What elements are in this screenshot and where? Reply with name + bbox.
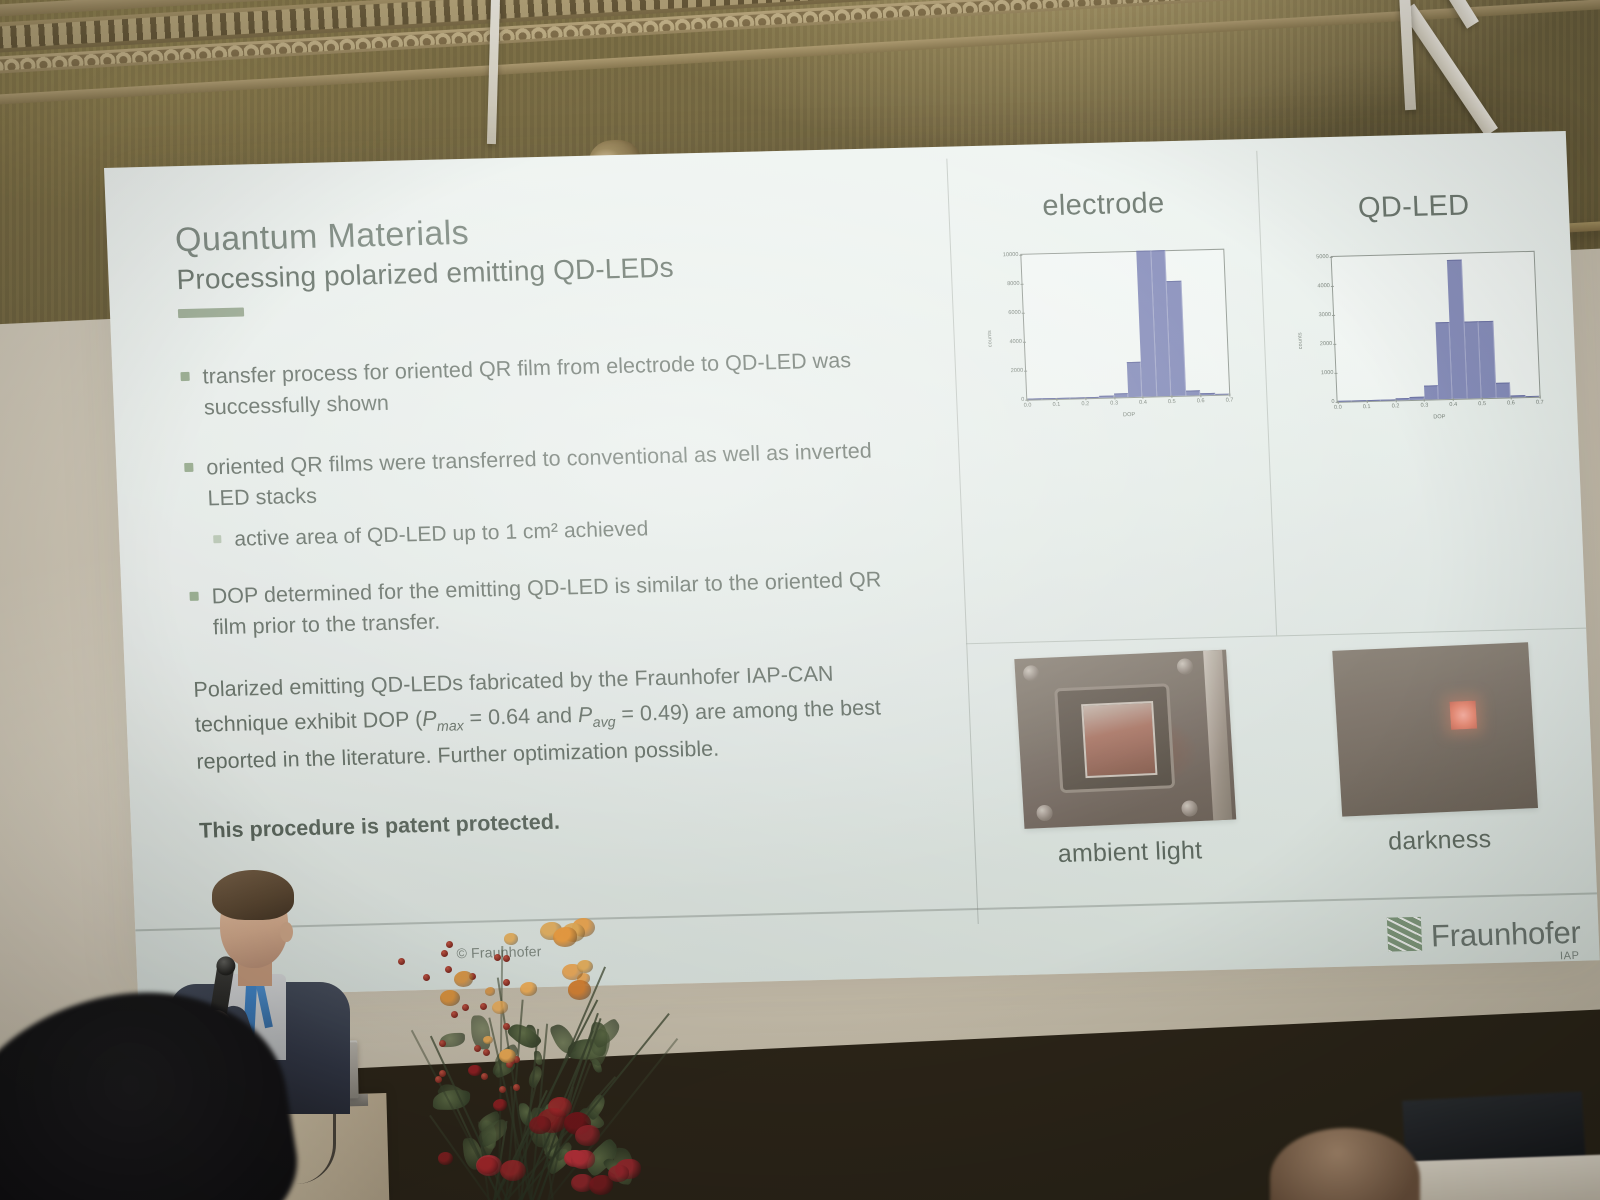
histogram-bar: [1127, 362, 1143, 397]
flower-blossom: [485, 987, 496, 996]
y-axis-tick-label: 2000: [1011, 368, 1024, 374]
hair: [212, 870, 294, 920]
screw-icon: [1023, 665, 1040, 682]
audience-head: [1270, 1128, 1420, 1200]
x-axis-tick-label: 0.4: [1139, 400, 1147, 406]
y-axis-tick-label: 4000: [1009, 339, 1022, 345]
histogram-bar: [1200, 393, 1214, 395]
figure-caption-darkness: darkness: [1388, 825, 1492, 857]
berry: [503, 1023, 510, 1030]
plot-ylabel: counts: [1297, 332, 1304, 349]
x-axis-tick-label: 0.7: [1536, 400, 1544, 406]
histogram-bar: [1395, 398, 1409, 400]
x-axis-tick-label: 0.7: [1226, 397, 1234, 403]
flower-arrangement: [392, 912, 648, 1200]
histogram-bar: [1410, 396, 1425, 400]
bullet-list: transfer process for oriented QR film fr…: [180, 344, 925, 643]
flower-blossom: [571, 1150, 595, 1169]
x-axis-tick-label: 0.1: [1052, 402, 1060, 408]
figure-caption-ambient: ambient light: [1057, 836, 1203, 869]
x-axis-tick-label: 0.1: [1363, 404, 1371, 410]
flower-blossom: [492, 1001, 508, 1014]
bullet-item: transfer process for oriented QR film fr…: [180, 344, 916, 424]
device-photo-darkness: [1332, 642, 1538, 816]
plot-xlabel: DOP: [1337, 412, 1541, 423]
fraunhofer-logo-icon: [1387, 917, 1422, 952]
histogram-bar: [1511, 395, 1525, 397]
bullet-item: oriented QR films were transferred to co…: [184, 435, 920, 515]
figure-electrode: electrode counts DOP 0200040006000800010…: [946, 139, 1276, 643]
berry: [445, 966, 452, 973]
foliage-leaf: [471, 1016, 490, 1050]
y-axis-tick-label: 1000: [1321, 370, 1334, 376]
square-bullet-icon: [180, 372, 189, 381]
flower-blossom: [499, 1049, 516, 1063]
qdled-histogram-plot: counts DOP 0100020003000400050000.00.10.…: [1290, 247, 1547, 428]
y-axis-tick-label: 3000: [1319, 312, 1332, 318]
histogram-bar: [1479, 321, 1497, 398]
background-table: [1405, 1155, 1600, 1200]
photo-ambient-light: ambient light: [967, 650, 1289, 958]
x-axis-tick-label: 0.2: [1392, 403, 1400, 409]
bullet-text: DOP determined for the emitting QD-LED i…: [211, 564, 913, 643]
plot-xlabel: DOP: [1027, 410, 1231, 421]
flower-blossom: [608, 1165, 629, 1182]
x-axis-tick-label: 0.5: [1478, 401, 1486, 407]
flower-blossom: [468, 1065, 482, 1076]
conference-room-photo: Quantum Materials Processing polarized e…: [0, 0, 1600, 1200]
flower-blossom: [520, 982, 537, 996]
figure-caption-electrode: electrode: [1042, 187, 1165, 223]
plot-bars: [1332, 252, 1540, 402]
y-axis-tick-label: 6000: [1008, 310, 1021, 316]
histogram-bar: [1114, 393, 1129, 398]
accent-bar: [178, 308, 244, 319]
fraunhofer-logo: Fraunhofer: [1387, 913, 1581, 952]
x-axis-tick-label: 0.3: [1420, 403, 1428, 409]
berry: [462, 1004, 469, 1011]
berry: [481, 1073, 488, 1080]
x-axis-tick-label: 0.0: [1024, 403, 1032, 409]
histogram-bar: [1496, 382, 1511, 397]
screw-icon: [1181, 800, 1198, 817]
y-axis-tick-label: 5000: [1316, 254, 1329, 260]
y-axis-tick-label: 8000: [1007, 281, 1020, 287]
berry: [451, 1011, 458, 1018]
histogram-bar: [1424, 385, 1439, 400]
flower-blossom: [553, 927, 577, 947]
patent-notice: This procedure is patent protected.: [199, 796, 912, 849]
flower-blossom: [483, 1036, 493, 1044]
berry: [398, 958, 405, 965]
x-axis-tick-label: 0.4: [1449, 402, 1457, 408]
x-axis-tick-label: 0.5: [1168, 399, 1176, 405]
x-axis-tick-label: 0.3: [1110, 400, 1118, 406]
berry: [480, 1003, 487, 1010]
histogram-bar: [1186, 390, 1201, 395]
substrate-edge: [1203, 650, 1232, 821]
flower-blossom: [438, 1152, 453, 1164]
berry: [483, 1049, 490, 1056]
summary-paragraph: Polarized emitting QD-LEDs fabricated by…: [193, 655, 909, 780]
ear: [280, 922, 293, 942]
square-bullet-icon: [184, 463, 193, 472]
bullet-item: DOP determined for the emitting QD-LED i…: [189, 564, 925, 644]
berry: [441, 950, 448, 957]
berry: [513, 1084, 520, 1091]
berry: [503, 979, 510, 986]
x-axis-tick-label: 0.2: [1081, 401, 1089, 407]
photo-darkness: darkness: [1277, 643, 1599, 951]
slide-figure-column: electrode counts DOP 0200040006000800010…: [946, 131, 1600, 976]
flower-blossom: [568, 980, 591, 999]
x-axis-tick-label: 0.6: [1507, 400, 1515, 406]
flower-blossom: [504, 933, 518, 945]
screw-icon: [1036, 805, 1053, 822]
flower-blossom: [529, 1116, 551, 1134]
figure-caption-qdled: QD-LED: [1357, 189, 1470, 225]
square-bullet-icon: [213, 536, 221, 544]
berry: [503, 955, 510, 962]
electrode-histogram-plot: counts DOP 02000400060008000100000.00.10…: [980, 245, 1237, 426]
flower-blossom: [577, 960, 593, 973]
bullet-text: transfer process for oriented QR film fr…: [202, 344, 904, 423]
square-bullet-icon: [189, 592, 198, 601]
flower-blossom: [575, 1125, 600, 1145]
plot-ylabel: counts: [987, 329, 994, 346]
x-axis-tick-label: 0.0: [1334, 405, 1342, 411]
flower-blossom: [440, 990, 460, 1006]
plot-bars: [1021, 250, 1229, 400]
bullet-item-sub: active area of QD-LED up to 1 cm² achiev…: [213, 508, 922, 556]
emitting-pixel: [1449, 701, 1477, 730]
berry: [494, 954, 501, 961]
berry: [435, 1076, 442, 1083]
screw-icon: [1177, 658, 1194, 675]
flower-blossom: [454, 971, 474, 987]
device-photo-ambient: [1014, 650, 1236, 829]
y-axis-tick-label: 4000: [1317, 283, 1330, 289]
bullet-text: active area of QD-LED up to 1 cm² achiev…: [234, 515, 649, 555]
berry: [474, 1045, 481, 1052]
y-axis-tick-label: 2000: [1320, 341, 1333, 347]
flower-blossom: [493, 1099, 507, 1111]
berry: [423, 974, 430, 981]
bullet-text: oriented QR films were transferred to co…: [206, 435, 908, 514]
x-axis-tick-label: 0.6: [1197, 398, 1205, 404]
institute-abbreviation: IAP: [1560, 950, 1580, 962]
fraunhofer-logo-text: Fraunhofer: [1430, 917, 1581, 950]
berry: [446, 941, 453, 948]
y-axis-tick-label: 10000: [1003, 252, 1019, 258]
berry: [439, 1040, 446, 1047]
flower-blossom: [477, 1157, 498, 1174]
qdled-die: [1081, 701, 1157, 779]
histogram-bar: [1099, 396, 1113, 398]
figure-qdled: QD-LED counts DOP 0100020003000400050000…: [1256, 131, 1586, 635]
